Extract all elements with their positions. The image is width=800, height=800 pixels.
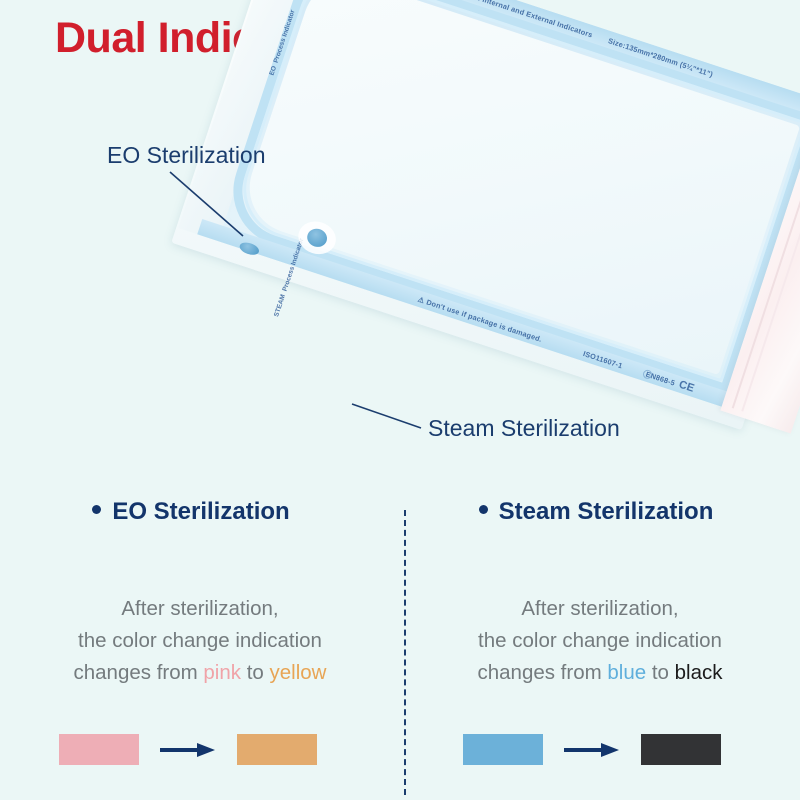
panel-body-eo-color-from: pink <box>203 661 241 684</box>
panel-body-steam-line2: the color change indication <box>400 625 800 657</box>
bullet-icon <box>92 505 101 514</box>
comparison-panel: EO Sterilization After sterilization, th… <box>0 478 800 800</box>
panel-body-eo-color-to: yellow <box>270 661 327 684</box>
swatch-eo-before <box>59 734 139 765</box>
panel-heading-steam: Steam Sterilization <box>400 498 800 526</box>
swatch-steam-after <box>641 734 721 765</box>
panel-body-eo-line1: After sterilization, <box>0 593 400 625</box>
panel-heading-eo-text: EO Sterilization <box>112 498 289 525</box>
panel-swatches-steam <box>400 734 800 765</box>
product-photo: Self Seal Sterilization Pouch with Inter… <box>0 0 800 470</box>
panel-body-eo: After sterilization, the color change in… <box>0 593 400 689</box>
callout-label-steam-sterilization: Steam Sterilization <box>428 415 620 442</box>
panel-heading-steam-text: Steam Sterilization <box>499 498 714 525</box>
arrow-right-icon <box>159 742 217 758</box>
arrow-right-icon <box>563 742 621 758</box>
sterilization-pouch: Self Seal Sterilization Pouch with Inter… <box>196 0 800 423</box>
panel-body-eo-line2: the color change indication <box>0 625 400 657</box>
panel-body-steam-color-from: blue <box>607 661 646 684</box>
panel-heading-eo: EO Sterilization <box>0 498 400 526</box>
panel-body-eo-line3-prefix: changes from <box>74 661 204 684</box>
panel-body-eo-line3-mid: to <box>241 661 270 684</box>
panel-swatches-eo <box>0 734 400 765</box>
panel-body-steam-line3-mid: to <box>646 661 675 684</box>
panel-body-eo-line3: changes from pink to yellow <box>0 657 400 689</box>
bullet-icon <box>479 505 488 514</box>
panel-body-steam-line1: After sterilization, <box>400 593 800 625</box>
swatch-eo-after <box>237 734 317 765</box>
callout-label-eo-sterilization: EO Sterilization <box>107 142 266 169</box>
panel-body-steam-color-to: black <box>675 661 723 684</box>
swatch-steam-before <box>463 734 543 765</box>
panel-body-steam: After sterilization, the color change in… <box>400 593 800 689</box>
panel-body-steam-line3: changes from blue to black <box>400 657 800 689</box>
panel-body-steam-line3-prefix: changes from <box>477 661 607 684</box>
